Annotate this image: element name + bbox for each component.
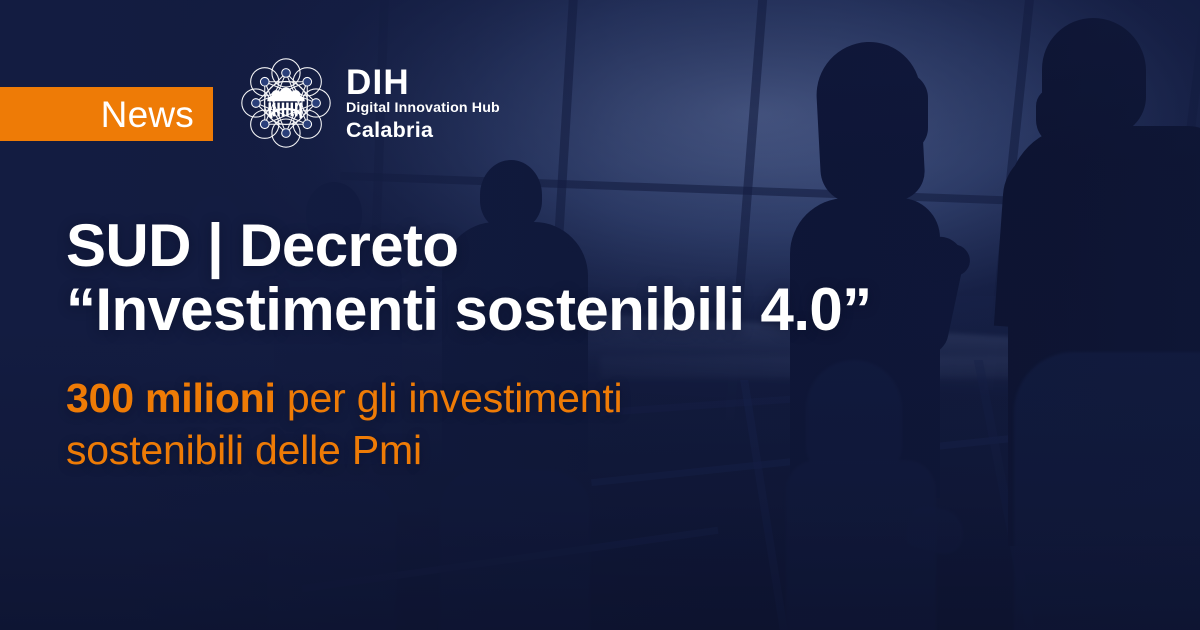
dih-wordmark: DIH Digital Innovation Hub Calabria [346,64,500,143]
headline-line-2: “Investimenti sostenibili 4.0” [66,278,872,342]
subheadline: 300 milioni per gli investimenti sosteni… [66,372,622,476]
subheadline-line-1: 300 milioni per gli investimenti [66,375,622,421]
subheadline-line-1-rest: per gli investimenti [276,375,623,421]
dih-network-emblem-icon [239,56,333,150]
headline-line-1: SUD | Decreto [66,212,458,279]
subheadline-amount: 300 milioni [66,375,276,421]
logo-region: Calabria [346,119,500,143]
dih-calabria-logo[interactable]: DIH Digital Innovation Hub Calabria [239,56,500,150]
banner-content: News [0,0,1200,630]
headline: SUD | Decreto “Investimenti sostenibili … [66,214,872,342]
news-banner: News [0,0,1200,630]
news-badge-label: News [101,96,194,133]
logo-acronym: DIH [346,66,500,100]
logo-expansion: Digital Innovation Hub [346,100,500,118]
news-badge: News [0,87,213,141]
subheadline-line-2: sostenibili delle Pmi [66,424,622,476]
